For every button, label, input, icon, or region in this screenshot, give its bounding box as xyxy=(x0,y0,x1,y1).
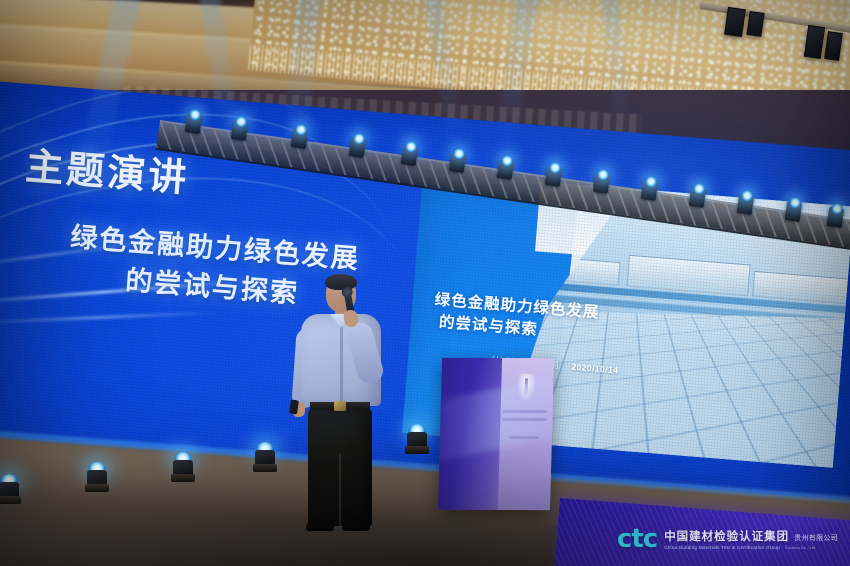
shirt-placket xyxy=(340,322,343,402)
speaker-trousers xyxy=(308,408,372,526)
moving-head-light-icon xyxy=(231,119,249,141)
moving-head-light-icon xyxy=(291,127,309,149)
light-base xyxy=(253,464,277,472)
moving-head-light-icon xyxy=(185,112,203,134)
lectern-podium xyxy=(438,358,554,510)
moving-head-light-icon xyxy=(593,172,611,194)
floor-moving-light-icon xyxy=(0,474,22,504)
moving-head-light-icon xyxy=(449,151,467,173)
moving-head-light-icon xyxy=(349,136,367,158)
floor-moving-light-icon xyxy=(252,442,278,472)
moving-head-light-icon xyxy=(497,158,515,180)
speaker-presenter xyxy=(288,276,392,530)
hanging-speaker-icon xyxy=(724,7,746,37)
light-base xyxy=(405,446,429,454)
light-base xyxy=(0,496,21,504)
floor-moving-light-icon xyxy=(404,424,430,454)
moving-head-light-icon xyxy=(401,144,419,166)
light-base xyxy=(171,474,195,482)
belt-buckle-icon xyxy=(334,401,346,411)
moving-head-light-icon xyxy=(827,206,845,228)
moving-head-light-icon xyxy=(641,179,659,201)
floor-moving-light-icon xyxy=(170,452,196,482)
floor-moving-light-icon xyxy=(84,462,110,492)
speaker-hair xyxy=(325,274,357,290)
moving-head-light-icon xyxy=(785,200,803,222)
moving-head-light-icon xyxy=(545,165,563,187)
moving-head-light-icon xyxy=(689,186,707,208)
light-base xyxy=(85,484,109,492)
moving-head-light-icon xyxy=(737,193,755,215)
conference-stage-photo: 主题演讲 绿色金融助力绿色发展 的尝试与探索 绿色金融助力绿色发展 的尝试与探索… xyxy=(0,0,850,566)
